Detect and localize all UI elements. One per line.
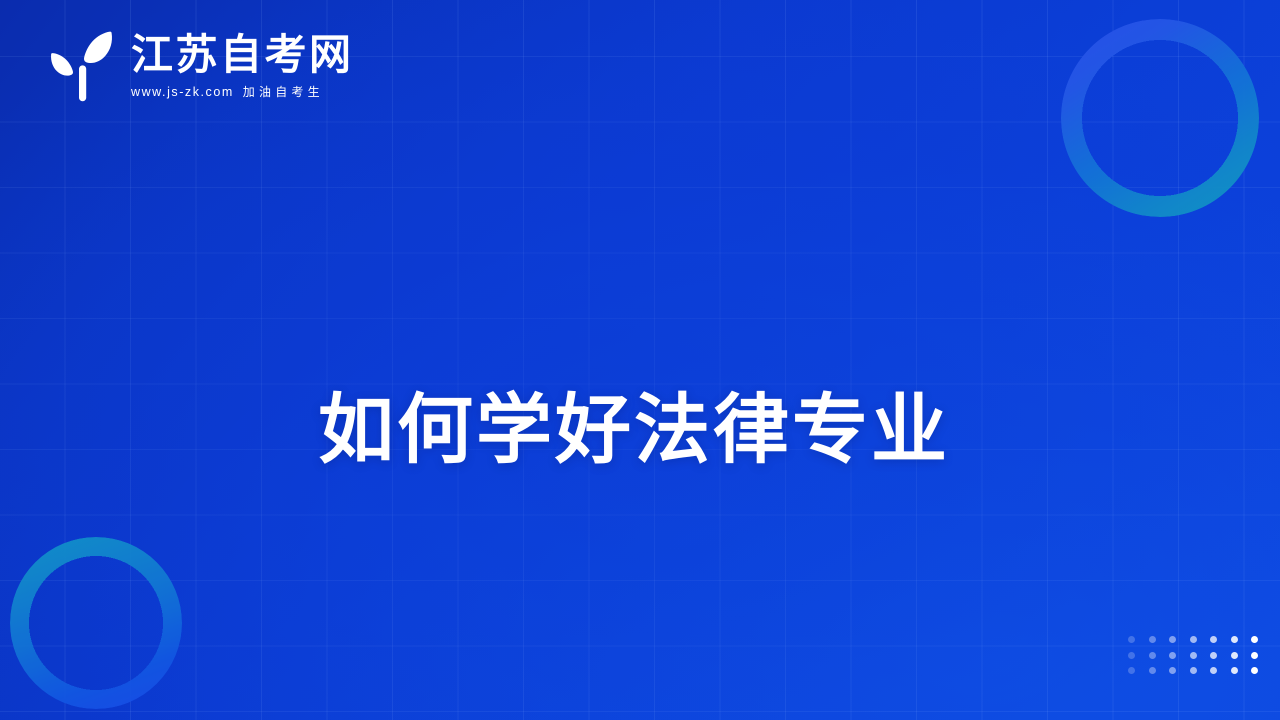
- brand-slogan: 加油自考生: [243, 86, 324, 98]
- dot: [1210, 667, 1217, 674]
- dot: [1128, 636, 1135, 643]
- sprout-leaf-icon: [48, 28, 116, 102]
- brand-text-block: 江苏自考网 www.js-zk.com 加油自考生: [131, 32, 354, 98]
- dot: [1149, 652, 1156, 659]
- brand-website: www.js-zk.com: [131, 86, 234, 99]
- banner-slide: 江苏自考网 www.js-zk.com 加油自考生 如何学好法律专业: [0, 0, 1280, 720]
- dot: [1251, 667, 1258, 674]
- dot: [1190, 652, 1197, 659]
- dot: [1210, 636, 1217, 643]
- decorative-ring-top-right: [1061, 19, 1259, 217]
- dot: [1169, 636, 1176, 643]
- dot: [1128, 652, 1135, 659]
- dot: [1231, 652, 1238, 659]
- background-glow: [0, 0, 1280, 720]
- dot: [1128, 667, 1135, 674]
- decorative-ring-bottom-left: [10, 537, 182, 709]
- dot: [1251, 652, 1258, 659]
- dot: [1169, 652, 1176, 659]
- dot: [1169, 667, 1176, 674]
- dot: [1149, 667, 1156, 674]
- brand-wordmark: 江苏自考网: [131, 34, 354, 77]
- background-grid: [0, 0, 1280, 720]
- dot: [1190, 636, 1197, 643]
- dot: [1210, 652, 1217, 659]
- decorative-dot-matrix: [1128, 636, 1272, 683]
- dot: [1190, 667, 1197, 674]
- brand-logo-lockup[interactable]: 江苏自考网 www.js-zk.com 加油自考生: [48, 28, 354, 102]
- brand-tagline: www.js-zk.com 加油自考生: [131, 86, 354, 99]
- dot: [1231, 667, 1238, 674]
- page-title: 如何学好法律专业: [318, 387, 950, 472]
- dot: [1231, 636, 1238, 643]
- dot: [1149, 636, 1156, 643]
- dot: [1251, 636, 1258, 643]
